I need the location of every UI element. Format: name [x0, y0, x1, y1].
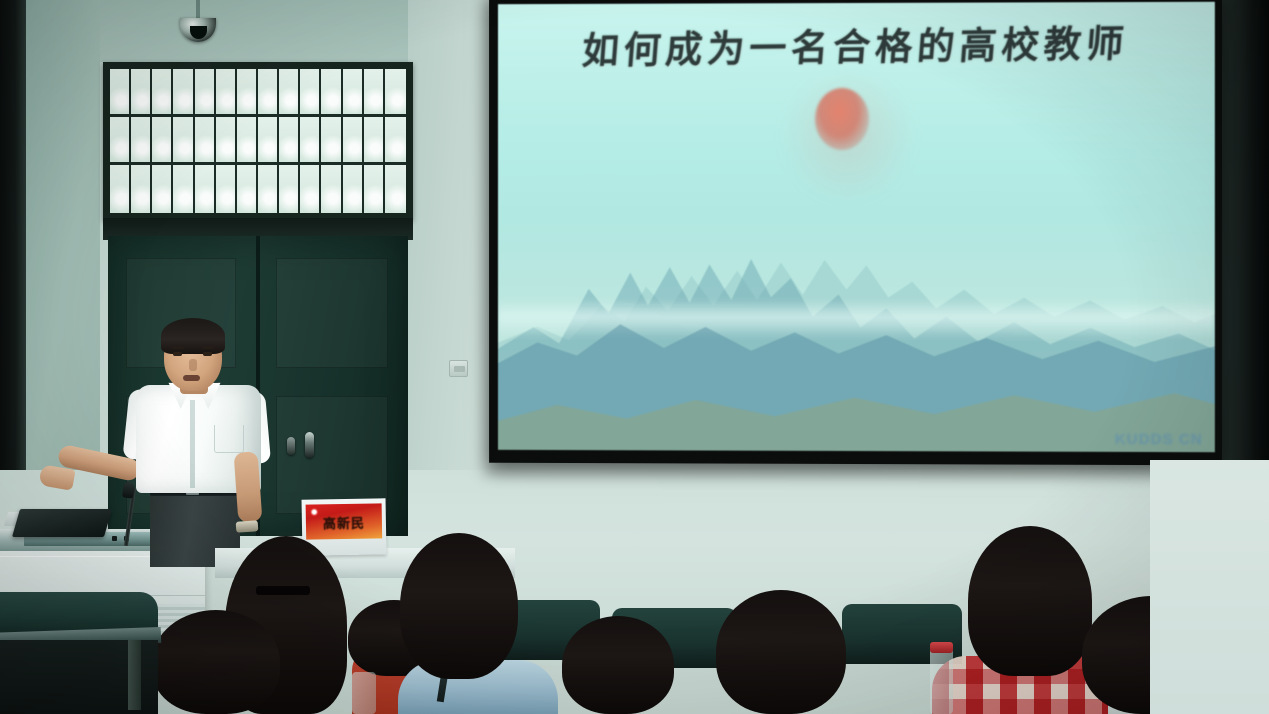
- window-pane: [364, 117, 385, 165]
- list-item: [716, 590, 846, 714]
- hair-clip-icon: [256, 586, 310, 595]
- window-pane: [279, 69, 300, 117]
- window-pane: [152, 165, 173, 213]
- window-pane: [131, 117, 152, 165]
- window-pane: [110, 165, 131, 213]
- list-item: [562, 616, 674, 714]
- window-pane: [216, 69, 237, 117]
- placard-card: 高新民: [306, 503, 383, 539]
- window-pane: [110, 117, 131, 165]
- window-pane: [279, 117, 300, 165]
- list-item: [968, 526, 1092, 676]
- window-pane: [321, 117, 342, 165]
- window-pane: [173, 117, 194, 165]
- mountain-layer-foreground: [498, 352, 1215, 452]
- window-pane: [131, 165, 152, 213]
- speaker-wristwatch: [236, 520, 259, 533]
- speaker-eyebrow-left: [172, 346, 184, 349]
- window-pane: [343, 69, 364, 117]
- right-wall-lower: [1150, 460, 1269, 714]
- window-pane: [131, 69, 152, 117]
- window-pane: [195, 117, 216, 165]
- camera-mount-stem: [196, 0, 200, 20]
- window-pane: [385, 69, 406, 117]
- window-pane: [237, 165, 258, 213]
- window-pane: [110, 69, 131, 117]
- speaker-nose: [189, 359, 197, 371]
- wall-left-edge-dark: [0, 0, 26, 497]
- bottle-cap-icon: [930, 642, 953, 653]
- window-pane: [300, 69, 321, 117]
- window-pane: [258, 69, 279, 117]
- transom-glass-grid: [110, 69, 406, 213]
- lecture-hall-photo: KUDDS CN 如何成为一名合格的高校教师 高新民: [0, 0, 1269, 714]
- window-pane: [279, 165, 300, 213]
- list-item: [152, 610, 280, 714]
- speaker-hair: [161, 318, 225, 354]
- window-pane: [300, 117, 321, 165]
- window-pane: [364, 69, 385, 117]
- window-pane: [237, 69, 258, 117]
- window-pane: [364, 165, 385, 213]
- window-pane: [216, 117, 237, 165]
- window-pane: [152, 69, 173, 117]
- window-pane: [385, 117, 406, 165]
- wall-right-dark-edge: [1220, 0, 1269, 470]
- window-pane: [173, 165, 194, 213]
- transom-window: [103, 62, 413, 220]
- console-led: [112, 536, 117, 541]
- laptop-screen[interactable]: [12, 509, 112, 537]
- speaker-mouth: [183, 375, 200, 381]
- chair-leg: [128, 640, 141, 710]
- window-pane: [195, 69, 216, 117]
- window-pane: [195, 165, 216, 213]
- speaker-right-arm: [234, 451, 263, 523]
- window-pane: [385, 165, 406, 213]
- door-panel: [276, 258, 388, 368]
- wall-between-door-and-screen: [408, 0, 490, 540]
- projection-screen: KUDDS CN 如何成为一名合格的高校教师: [489, 0, 1222, 465]
- window-pane: [321, 165, 342, 213]
- speaker-eye-left: [173, 352, 182, 356]
- microphone-icon: [122, 481, 135, 498]
- water-bottle[interactable]: [930, 648, 953, 714]
- wall-outlet[interactable]: [449, 360, 468, 377]
- window-pane: [343, 117, 364, 165]
- speaker-eye-right: [203, 352, 212, 356]
- window-pane: [216, 165, 237, 213]
- window-pane: [173, 69, 194, 117]
- window-pane: [343, 165, 364, 213]
- speaker-eyebrow-right: [202, 346, 214, 349]
- window-pane: [321, 69, 342, 117]
- sun-icon: [815, 88, 869, 150]
- window-pane: [300, 165, 321, 213]
- placard-logo-icon: [310, 507, 319, 516]
- presentation-slide: KUDDS CN 如何成为一名合格的高校教师: [498, 2, 1215, 452]
- window-pane: [237, 117, 258, 165]
- slide-title: 如何成为一名合格的高校教师: [498, 12, 1215, 76]
- list-item: [400, 533, 518, 679]
- speaker-shirt-placket: [190, 400, 195, 488]
- window-pane: [258, 117, 279, 165]
- door-panel: [276, 396, 388, 514]
- wall-left-panel: [24, 0, 100, 500]
- window-pane: [258, 165, 279, 213]
- door-handle-left[interactable]: [287, 437, 295, 455]
- placard-name-text: 高新民: [323, 513, 365, 533]
- slide-watermark: KUDDS CN: [1115, 431, 1203, 448]
- speaker-shirt-pocket: [214, 425, 244, 453]
- water-bottle[interactable]: [352, 672, 376, 714]
- window-pane: [152, 117, 173, 165]
- door-handle-right[interactable]: [305, 432, 314, 458]
